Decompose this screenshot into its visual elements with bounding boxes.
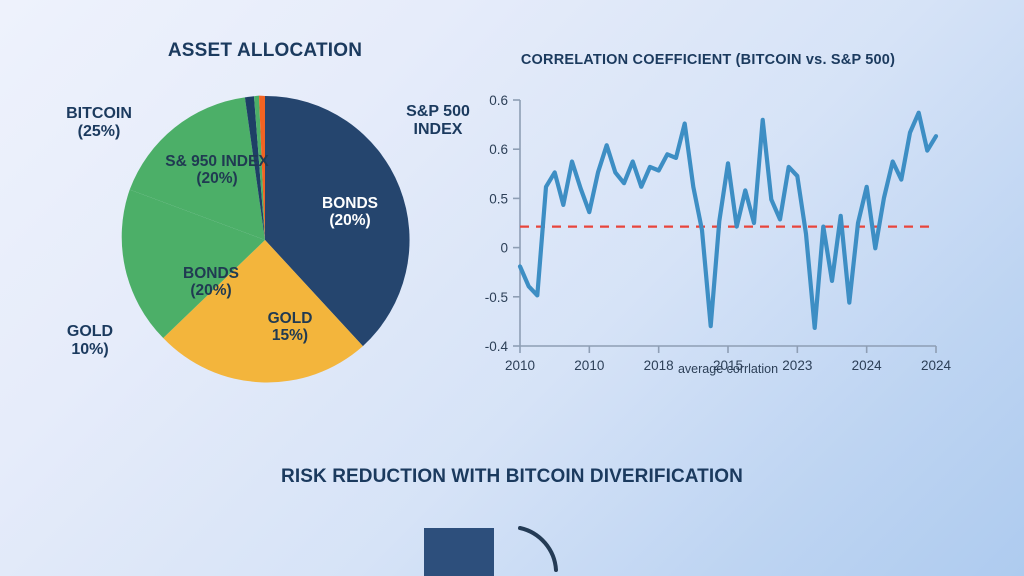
y-tick-label: 0.6 <box>489 142 508 157</box>
y-tick-label: 0 <box>500 241 508 256</box>
y-tick-label: -0.5 <box>485 290 508 305</box>
risk-arc-icon <box>516 524 580 576</box>
y-tick-label: 0.6 <box>489 93 508 108</box>
y-tick-label: 0.5 <box>489 191 508 206</box>
infographic-canvas: ASSET ALLOCATION S& 950 INDEX (20%) BO <box>0 0 1024 576</box>
line-chart-title: CORRELATION COEFFICIENT (BITCOIN vs. S&P… <box>448 52 968 68</box>
correlation-line-chart: 0.60.60.50-0.5-0.4 201020102018201520232… <box>448 78 968 378</box>
correlation-series-line <box>520 113 936 328</box>
asset-allocation-pie-chart: S& 950 INDEX (20%) BONDS (20%) GOLD 15%)… <box>120 95 410 385</box>
risk-bar[interactable] <box>424 528 494 576</box>
pie-svg <box>120 95 410 385</box>
x-tick-label: 2023 <box>782 358 812 373</box>
x-tick-label: 2024 <box>852 358 883 373</box>
x-tick-label: 2010 <box>505 358 535 373</box>
pie-label-line1: GOLD <box>67 323 113 340</box>
x-tick-label: 2010 <box>574 358 604 373</box>
y-tick-label: -0.4 <box>485 339 509 354</box>
y-axis: 0.60.60.50-0.5-0.4 <box>485 93 520 354</box>
x-tick-label: 2024 <box>921 358 952 373</box>
x-axis-label: average corrlation <box>678 362 778 376</box>
line-chart-svg: 0.60.60.50-0.5-0.4 201020102018201520232… <box>448 78 968 378</box>
bottom-section-title: RISK REDUCTION WITH BITCOIN DIVERIFICATI… <box>0 466 1024 488</box>
x-tick-label: 2018 <box>644 358 674 373</box>
